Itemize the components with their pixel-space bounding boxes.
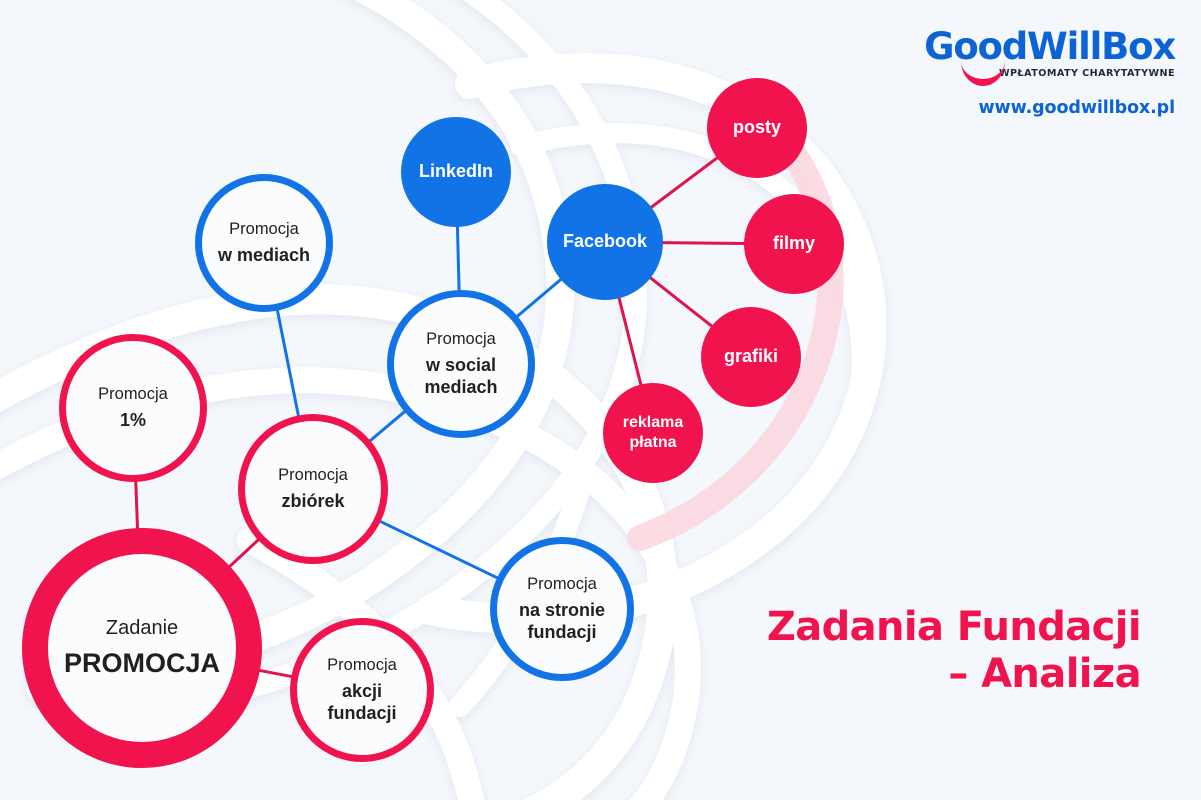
node-zadanie-promocja[interactable]: ZadaniePROMOCJA [22, 528, 262, 768]
node-filmy[interactable]: filmy [744, 194, 844, 294]
node-promocja-w-social-mediach-line-3: mediach [424, 377, 497, 399]
node-promocja-w-social-mediach-line-1: Promocja [426, 329, 496, 349]
node-promocja-na-stronie-fundacji-line-1: Promocja [527, 574, 597, 594]
page-title-line-2: – Analiza [721, 651, 1141, 698]
node-promocja-akcji-fundacji-line-1: Promocja [327, 655, 397, 675]
node-reklama-platna-line-2: płatna [629, 433, 676, 453]
node-promocja-na-stronie-fundacji[interactable]: Promocjana stroniefundacji [490, 537, 634, 681]
edge-facebook-to-posty [649, 156, 719, 209]
node-zadanie-promocja-line-2: PROMOCJA [64, 647, 220, 680]
page-title-line-1: Zadania Fundacji [721, 604, 1141, 651]
edge-promocja-zbiorek-to-promocja-w-mediach [277, 308, 299, 419]
node-promocja-na-stronie-fundacji-line-3: fundacji [527, 622, 596, 644]
smile-icon [961, 61, 1005, 86]
node-filmy-line-1: filmy [773, 233, 815, 255]
node-promocja-1-procent-line-1: Promocja [98, 384, 168, 404]
node-promocja-1-procent-line-2: 1% [120, 410, 146, 432]
edge-promocja-zbiorek-to-promocja-na-stronie-fundacji [378, 520, 500, 579]
edge-promocja-w-social-mediach-to-facebook [515, 278, 563, 319]
node-facebook[interactable]: Facebook [547, 184, 663, 300]
infographic-canvas: ZadaniePROMOCJAPromocja1%Promocjazbiórek… [0, 0, 1201, 800]
node-promocja-akcji-fundacji-line-2: akcji [342, 681, 382, 703]
node-posty[interactable]: posty [707, 78, 807, 178]
node-promocja-zbiorek[interactable]: Promocjazbiórek [238, 414, 388, 564]
edge-zadanie-promocja-to-promocja-zbiorek [228, 538, 261, 568]
node-reklama-platna-line-1: reklama [623, 413, 684, 433]
node-promocja-w-mediach-line-2: w mediach [218, 245, 310, 267]
node-promocja-1-procent[interactable]: Promocja1% [59, 334, 207, 482]
page-title: Zadania Fundacji – Analiza [721, 604, 1141, 698]
node-promocja-akcji-fundacji[interactable]: Promocjaakcjifundacji [290, 618, 434, 762]
logo-wordmark: GoodWillBox [923, 28, 1175, 65]
edge-promocja-zbiorek-to-promocja-w-social-mediach [368, 410, 407, 443]
edge-promocja-w-social-mediach-to-linkedin [457, 224, 459, 293]
node-facebook-line-1: Facebook [563, 231, 647, 253]
node-zadanie-promocja-line-1: Zadanie [106, 616, 178, 640]
node-promocja-zbiorek-line-1: Promocja [278, 465, 348, 485]
node-posty-line-1: posty [733, 117, 781, 139]
node-promocja-w-social-mediach[interactable]: Promocjaw socialmediach [387, 290, 535, 438]
edge-facebook-to-reklama-platna [618, 295, 641, 387]
node-linkedin[interactable]: LinkedIn [401, 117, 511, 227]
node-promocja-w-mediach-line-1: Promocja [229, 219, 299, 239]
node-promocja-na-stronie-fundacji-line-2: na stronie [519, 600, 605, 622]
brand-logo[interactable]: GoodWillBox WPŁATOMATY CHARYTATYWNE www.… [923, 28, 1175, 118]
edge-facebook-to-grafiki [648, 276, 714, 328]
edge-facebook-to-filmy [660, 243, 747, 244]
website-url[interactable]: www.goodwillbox.pl [923, 98, 1175, 118]
edge-zadanie-promocja-to-promocja-akcji-fundacji [257, 670, 294, 677]
logo-tagline: WPŁATOMATY CHARYTATYWNE [923, 68, 1175, 79]
node-promocja-zbiorek-line-2: zbiórek [281, 491, 344, 513]
node-reklama-platna[interactable]: reklamapłatna [603, 383, 703, 483]
node-promocja-w-social-mediach-line-2: w social [426, 355, 496, 377]
node-grafiki-line-1: grafiki [724, 346, 778, 368]
node-promocja-akcji-fundacji-line-3: fundacji [327, 703, 396, 725]
node-linkedin-line-1: LinkedIn [419, 161, 493, 183]
node-promocja-w-mediach[interactable]: Promocjaw mediach [195, 174, 333, 312]
edge-zadanie-promocja-to-promocja-1-procent [136, 479, 138, 531]
node-grafiki[interactable]: grafiki [701, 307, 801, 407]
